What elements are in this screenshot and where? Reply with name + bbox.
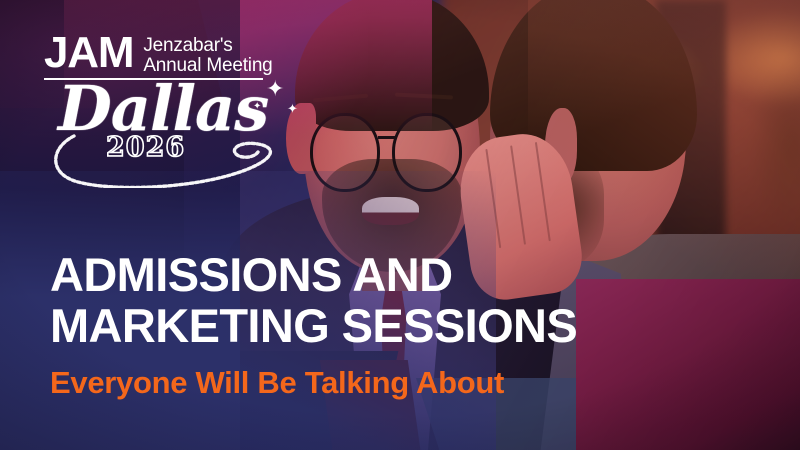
sparkle-star-icon: ✦ [253, 102, 261, 112]
headline-line-2: MARKETING SESSIONS [50, 303, 650, 349]
headline: ADMISSIONS AND MARKETING SESSIONS [50, 252, 650, 348]
headline-line-1: ADMISSIONS AND [50, 248, 452, 301]
jam-expansion-line1: Jenzabar's [143, 36, 272, 56]
dallas-lockup: Dallas 2026 ✦ ✦ ✦ [44, 76, 324, 172]
event-logo: JAM Jenzabar's Annual Meeting Dallas 202… [44, 33, 324, 193]
promo-banner: JAM Jenzabar's Annual Meeting Dallas 202… [0, 0, 800, 450]
jam-expansion: Jenzabar's Annual Meeting [143, 33, 272, 76]
jam-wordmark-row: JAM Jenzabar's Annual Meeting [44, 33, 324, 76]
year-2026: 2026 [106, 132, 185, 163]
headline-subline: Everyone Will Be Talking About [50, 365, 650, 401]
sparkle-star-icon: ✦ [287, 102, 298, 115]
headline-block: ADMISSIONS AND MARKETING SESSIONS Everyo… [50, 252, 650, 401]
jam-acronym: JAM [44, 33, 133, 73]
sparkle-star-icon: ✦ [266, 78, 284, 100]
